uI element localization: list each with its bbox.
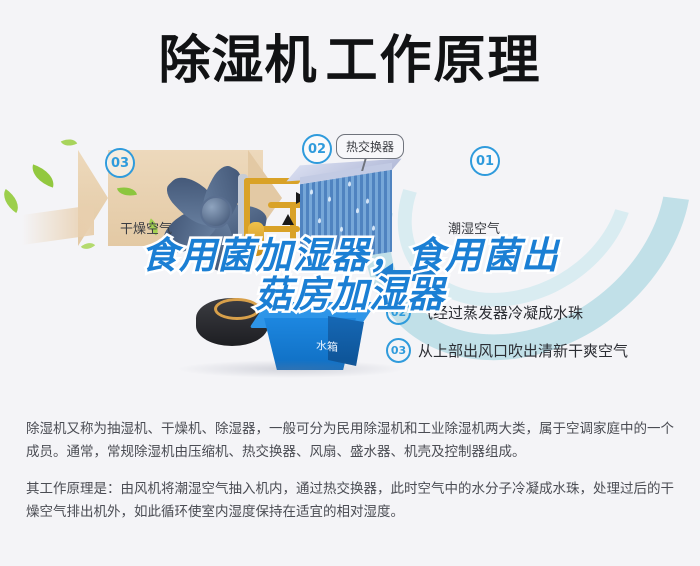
page-title-main: 工作原理	[326, 31, 542, 91]
page-title: 除湿机工作原理	[158, 35, 541, 87]
description-paragraph-1: 除湿机又称为抽湿机、干燥机、除湿器，一般可分为民用除湿机和工业除湿机两大类，属于…	[26, 418, 674, 464]
infographic-page: 除湿机工作原理	[0, 0, 700, 566]
page-title-lead: 除湿机	[158, 31, 317, 91]
watermark-overlay: 食用菌加湿器，食用菌出 菇房加湿器	[0, 236, 700, 314]
step-03-badge: 03	[386, 338, 411, 363]
badge-01: 01	[470, 146, 500, 176]
badge-02: 02	[302, 134, 332, 164]
watermark-line-1: 食用菌加湿器，食用菌出	[0, 236, 700, 275]
step-03-text: 从上部出风口吹出清新干爽空气	[418, 340, 628, 361]
title-block: 除湿机工作原理	[0, 0, 700, 122]
step-03: 03 从上部出风口吹出清新干爽空气	[386, 338, 628, 363]
badge-03: 03	[105, 148, 135, 178]
leaf-icon	[28, 164, 58, 187]
water-tank-label: 水箱	[316, 337, 338, 355]
description-block: 除湿机又称为抽湿机、干燥机、除湿器，一般可分为民用除湿机和工业除湿机两大类，属于…	[0, 404, 700, 566]
description-paragraph-2: 其工作原理是：由风机将潮湿空气抽入机内，通过热交换器，此时空气中的水分子冷凝成水…	[26, 478, 674, 524]
leaf-icon	[0, 189, 24, 213]
unit-shadow	[176, 360, 406, 378]
leaf-icon	[61, 135, 78, 149]
heat-exchanger-callout: 热交换器	[336, 134, 404, 159]
watermark-line-2: 菇房加湿器	[0, 275, 700, 314]
